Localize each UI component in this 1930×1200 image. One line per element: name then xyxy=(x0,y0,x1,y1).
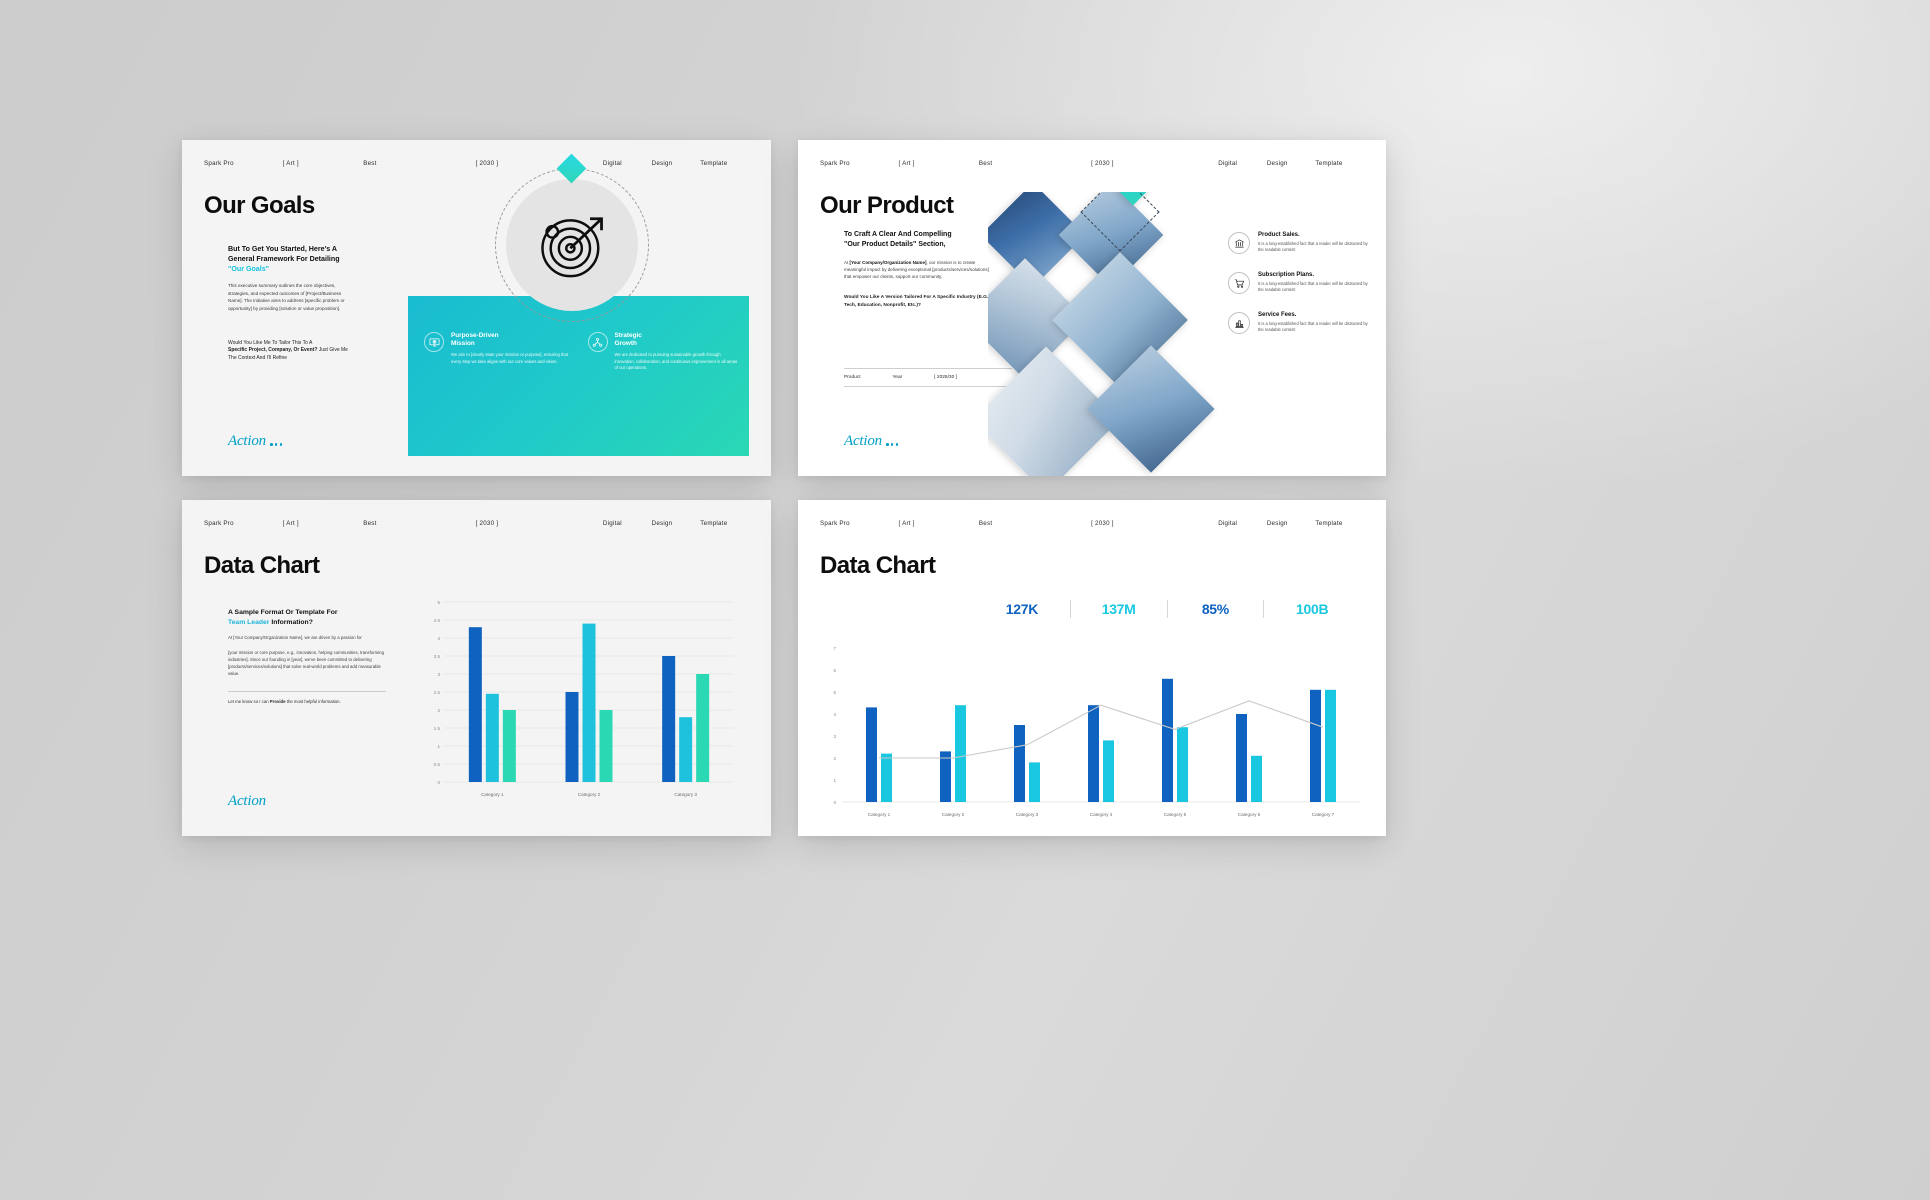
action-logo-dots xyxy=(886,443,898,450)
goals-tailor-bold: Specific Project, Company, Or Event? xyxy=(228,347,317,353)
product-list-item-0-title: Product Sales. xyxy=(1258,232,1368,238)
goals-text-column: But To Get You Started, Here's A General… xyxy=(228,244,356,362)
page-title: Data Chart xyxy=(204,552,319,580)
chart3-footer-prefix: Let me know so I can xyxy=(228,699,270,704)
svg-text:Category 2: Category 2 xyxy=(578,792,601,797)
nav-item-3[interactable]: [ 2030 ] xyxy=(1091,520,1218,527)
chart3-paragraph-2: [your mission or core purpose, e.g., inn… xyxy=(228,650,386,678)
chart3-footer: Let me know so I can Provide the most he… xyxy=(228,699,386,706)
kpi-2: 85% xyxy=(1168,601,1264,617)
nav-item-2[interactable]: Best xyxy=(979,520,1091,527)
svg-text:Category 6: Category 6 xyxy=(1238,812,1261,817)
product-list-item-1[interactable]: Subscription Plans. It is a long-establi… xyxy=(1228,272,1368,294)
nav-item-4[interactable]: Digital xyxy=(1218,160,1267,167)
svg-text:Category 2: Category 2 xyxy=(942,812,965,817)
goals-feature-0-title-l1: Purpose-Driven xyxy=(451,332,576,340)
svg-text:5: 5 xyxy=(833,690,836,695)
page-title: Our Goals xyxy=(204,192,315,220)
svg-text:6: 6 xyxy=(833,668,836,673)
kpi-0: 127K xyxy=(974,601,1070,617)
chart3-lede-tail: Information? xyxy=(269,619,312,626)
svg-text:Category 5: Category 5 xyxy=(1164,812,1187,817)
nav-item-4[interactable]: Digital xyxy=(603,520,652,527)
slide-our-product[interactable]: Spark Pro [ Art ] Best [ 2030 ] Digital … xyxy=(798,140,1386,476)
goals-lede-line1: But To Get You Started, Here's A xyxy=(228,244,356,254)
product-list-item-1-body: It is a long-established fact that a rea… xyxy=(1258,281,1368,293)
chart3-lede: A Sample Format Or Template For Team Lea… xyxy=(228,608,386,627)
action-logo[interactable]: Action xyxy=(228,793,266,810)
product-lede-line1: To Craft A Clear And Compelling xyxy=(844,230,994,240)
nav-item-2[interactable]: Best xyxy=(363,520,475,527)
chart4-svg: 01234567Category 1Category 2Category 3Ca… xyxy=(816,642,1368,822)
nav-item-0[interactable]: Spark Pro xyxy=(820,520,899,527)
svg-text:Category 4: Category 4 xyxy=(1090,812,1113,817)
nav-item-2[interactable]: Best xyxy=(979,160,1091,167)
goals-circle-graphic xyxy=(495,168,649,322)
goals-feature-0-body: We aim to [clearly state your mission or… xyxy=(451,352,576,365)
product-text-column: To Craft A Clear And Compelling "Our Pro… xyxy=(844,230,994,309)
chart4-plot: 01234567Category 1Category 2Category 3Ca… xyxy=(816,642,1368,822)
goals-lede-accent: "Our Goals" xyxy=(228,264,356,274)
goals-feature-0-title: Purpose-Driven Mission xyxy=(451,332,576,348)
svg-text:Category 1: Category 1 xyxy=(481,792,504,797)
product-field-label-1: Year xyxy=(893,375,903,380)
target-arrow-icon xyxy=(531,204,613,291)
nav-item-1[interactable]: [ Art ] xyxy=(899,520,979,527)
svg-text:2: 2 xyxy=(437,708,440,713)
svg-text:5: 5 xyxy=(437,600,440,605)
chart3-footer-tail: the most helpful information. xyxy=(286,699,341,704)
nav-item-5[interactable]: Design xyxy=(1267,160,1316,167)
nav-item-4[interactable]: Digital xyxy=(1218,520,1267,527)
goals-paragraph: This executive summary outlines the core… xyxy=(228,282,356,312)
svg-text:7: 7 xyxy=(833,646,836,651)
slide-nav: Spark Pro [ Art ] Best [ 2030 ] Digital … xyxy=(798,520,1386,527)
page-title: Data Chart xyxy=(820,552,935,580)
goals-lede-line2: General Framework For Detailing xyxy=(228,254,356,264)
slide-data-chart-3[interactable]: Spark Pro [ Art ] Best [ 2030 ] Digital … xyxy=(182,500,771,836)
nav-item-5[interactable]: Design xyxy=(1267,520,1316,527)
svg-text:1: 1 xyxy=(437,744,440,749)
goals-tailor-line1: Would You Like Me To Tailor This To A xyxy=(228,340,312,346)
svg-text:Category 3: Category 3 xyxy=(674,792,697,797)
nav-item-2[interactable]: Best xyxy=(363,160,475,167)
svg-text:3.5: 3.5 xyxy=(434,654,441,659)
goals-feature-1-body: We are dedicated to pursuing sustainable… xyxy=(615,352,740,372)
product-field-row: Product Year [ 2025/30 ] xyxy=(844,368,1012,387)
chart3-divider xyxy=(228,691,386,692)
svg-text:4.5: 4.5 xyxy=(434,618,441,623)
nav-item-1[interactable]: [ Art ] xyxy=(283,520,364,527)
slide-nav: Spark Pro [ Art ] Best [ 2030 ] Digital … xyxy=(798,160,1386,167)
network-growth-icon xyxy=(588,332,608,352)
slide-data-chart-4[interactable]: Spark Pro [ Art ] Best [ 2030 ] Digital … xyxy=(798,500,1386,836)
goals-feature-0: Purpose-Driven Mission We aim to [clearl… xyxy=(424,332,576,372)
svg-text:2.5: 2.5 xyxy=(434,690,441,695)
product-lede-line2: "Our Product Details" Section, xyxy=(844,240,994,250)
svg-text:0: 0 xyxy=(437,780,440,785)
svg-text:3: 3 xyxy=(437,672,440,677)
svg-text:4: 4 xyxy=(437,636,440,641)
action-logo-word: Action xyxy=(844,433,882,450)
bank-icon xyxy=(1228,232,1250,254)
goals-feature-1-title-l1: Strategic xyxy=(615,332,740,340)
goals-feature-1: Strategic Growth We are dedicated to pur… xyxy=(588,332,740,372)
svg-text:0.5: 0.5 xyxy=(434,762,441,767)
product-field-label-0: Product xyxy=(844,375,861,380)
chart3-lede-line1: A Sample Format Or Template For xyxy=(228,608,386,618)
svg-text:Category 1: Category 1 xyxy=(868,812,891,817)
bar-chart-icon xyxy=(1228,312,1250,334)
svg-text:3: 3 xyxy=(833,734,836,739)
page-title: Our Product xyxy=(820,192,953,220)
nav-item-6[interactable]: Template xyxy=(1315,520,1364,527)
nav-item-0[interactable]: Spark Pro xyxy=(204,520,283,527)
product-field-value-1: [ 2025/30 ] xyxy=(934,375,957,380)
nav-item-1[interactable]: [ Art ] xyxy=(283,160,364,167)
svg-text:1.5: 1.5 xyxy=(434,726,441,731)
product-list-item-2-title: Service Fees. xyxy=(1258,312,1368,318)
goals-tailor-block: Would You Like Me To Tailor This To A Sp… xyxy=(228,340,356,363)
nav-item-6[interactable]: Template xyxy=(1315,160,1364,167)
svg-text:2: 2 xyxy=(833,756,836,761)
product-list-item-2[interactable]: Service Fees. It is a long-established f… xyxy=(1228,312,1368,334)
nav-item-5[interactable]: Design xyxy=(652,160,701,167)
kpi-row: 127K 137M 85% 100B xyxy=(974,600,1360,618)
product-list-item-1-title: Subscription Plans. xyxy=(1258,272,1368,278)
svg-text:0: 0 xyxy=(833,800,836,805)
goals-feature-1-title: Strategic Growth xyxy=(615,332,740,348)
product-paragraph: At [Your Company/Organization Name], our… xyxy=(844,259,994,281)
product-feature-list: Product Sales. It is a long-established … xyxy=(1228,232,1368,352)
svg-text:Category 7: Category 7 xyxy=(1312,812,1335,817)
nav-item-3[interactable]: [ 2030 ] xyxy=(476,520,603,527)
product-paragraph2: Would You Like A Version Tailored For A … xyxy=(844,294,994,309)
nav-item-1[interactable]: [ Art ] xyxy=(899,160,979,167)
cart-icon xyxy=(1228,272,1250,294)
product-lede: To Craft A Clear And Compelling "Our Pro… xyxy=(844,230,994,250)
action-logo[interactable]: Action xyxy=(228,433,282,450)
product-list-item-0-body: It is a long-established fact that a rea… xyxy=(1258,241,1368,253)
svg-text:1: 1 xyxy=(833,778,836,783)
kpi-1: 137M xyxy=(1071,601,1167,617)
chart3-plot: 00.511.522.533.544.55Category 1Category … xyxy=(420,596,740,804)
product-paragraph-bold: [Your Company/Organization Name] xyxy=(850,260,927,265)
goals-feature-0-title-l2: Mission xyxy=(451,340,576,348)
action-logo-dots xyxy=(270,443,282,450)
action-logo-word: Action xyxy=(228,793,266,810)
slide-nav: Spark Pro [ Art ] Best [ 2030 ] Digital … xyxy=(182,520,771,527)
chart3-svg: 00.511.522.533.544.55Category 1Category … xyxy=(420,596,740,804)
chart3-lede-accent: Team Leader xyxy=(228,619,269,626)
slide-our-goals[interactable]: Spark Pro [ Art ] Best [ 2030 ] Digital … xyxy=(182,140,771,476)
chart3-text-column: A Sample Format Or Template For Team Lea… xyxy=(228,608,386,706)
goals-lede: But To Get You Started, Here's A General… xyxy=(228,244,356,274)
svg-text:Category 3: Category 3 xyxy=(1016,812,1039,817)
nav-item-6[interactable]: Template xyxy=(700,160,749,167)
svg-text:4: 4 xyxy=(833,712,836,717)
product-list-item-2-body: It is a long-established fact that a rea… xyxy=(1258,321,1368,333)
goals-feature-list: Purpose-Driven Mission We aim to [clearl… xyxy=(424,332,739,372)
chart3-footer-bold: Provide xyxy=(270,699,286,704)
chart3-paragraph-1: At [Your Company/Organization Name], we … xyxy=(228,635,386,642)
goals-feature-1-title-l2: Growth xyxy=(615,340,740,348)
nav-item-6[interactable]: Template xyxy=(700,520,749,527)
nav-item-5[interactable]: Design xyxy=(652,520,701,527)
monitor-target-icon xyxy=(424,332,444,352)
action-logo[interactable]: Action xyxy=(844,433,898,450)
nav-item-0[interactable]: Spark Pro xyxy=(204,160,283,167)
product-list-item-0[interactable]: Product Sales. It is a long-established … xyxy=(1228,232,1368,254)
nav-item-4[interactable]: Digital xyxy=(603,160,652,167)
nav-item-3[interactable]: [ 2030 ] xyxy=(1091,160,1218,167)
slide-nav: Spark Pro [ Art ] Best [ 2030 ] Digital … xyxy=(182,160,771,167)
nav-item-0[interactable]: Spark Pro xyxy=(820,160,899,167)
kpi-3: 100B xyxy=(1264,601,1360,617)
action-logo-word: Action xyxy=(228,433,266,450)
